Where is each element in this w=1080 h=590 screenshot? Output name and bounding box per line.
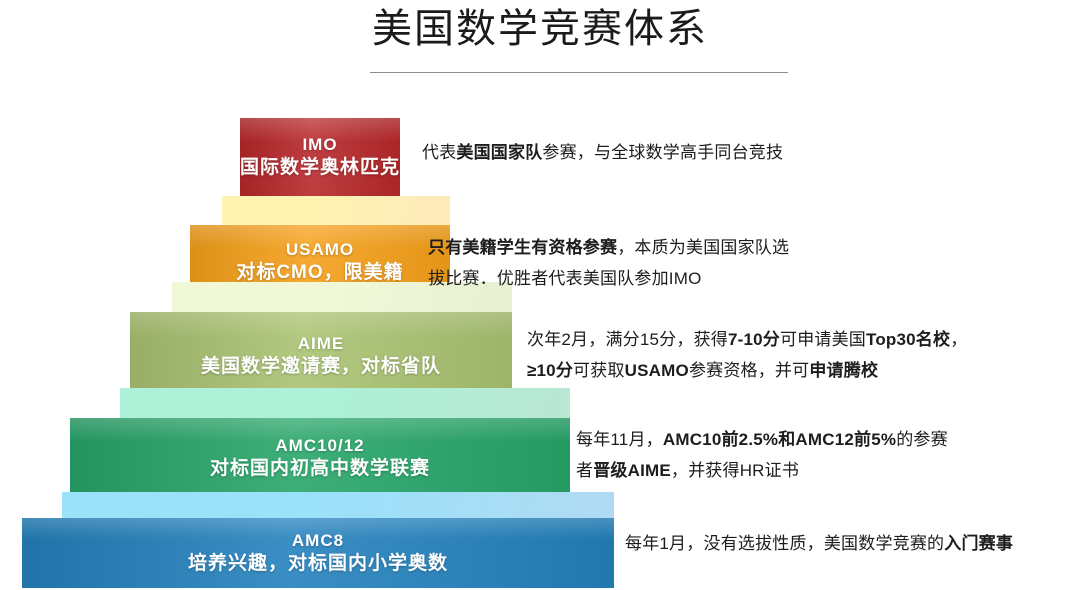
tier-front-face: AMC10/12对标国内初高中数学联赛 [70, 418, 570, 498]
tier-label-en: AIME [201, 333, 441, 355]
pyramid-tier-amc8-top-surface [62, 492, 614, 520]
emphasis-text: 美国国家队 [456, 143, 542, 162]
emphasis-text: 入门赛事 [944, 534, 1013, 553]
tier-top-polygon [222, 196, 450, 227]
description-line: 拔比赛．优胜者代表美国队参加IMO [428, 263, 789, 294]
plain-text: 每年1月，没有选拔性质，美国数学竞赛的 [625, 534, 944, 553]
description-line: 每年11月，AMC10前2.5%和AMC12前5%的参赛 [576, 424, 948, 455]
tier-label: AMC8培养兴趣，对标国内小学奥数 [188, 530, 448, 576]
emphasis-text: USAMO [625, 361, 689, 380]
imo-desc: 代表美国国家队参赛，与全球数学高手同台竞技 [422, 137, 783, 168]
plain-text: 参赛，与全球数学高手同台竞技 [542, 143, 783, 162]
description-line: 每年1月，没有选拔性质，美国数学竞赛的入门赛事 [625, 528, 1013, 559]
emphasis-text: 7-10分 [728, 330, 780, 349]
plain-text: 代表 [422, 143, 456, 162]
emphasis-text: AMC10前2.5%和AMC12前5% [663, 430, 896, 449]
tier-label-en: USAMO [236, 239, 403, 261]
plain-text: 拔比赛．优胜者代表美国队参加IMO [428, 269, 702, 288]
tier-label-en: AMC10/12 [210, 435, 430, 457]
tier-label-cn: 美国数学邀请赛，对标省队 [201, 355, 441, 379]
tier-label: AIME美国数学邀请赛，对标省队 [201, 333, 441, 379]
tier-label-cn: 国际数学奥林匹克 [240, 156, 400, 180]
pyramid-tier-amc1012-top-surface [120, 388, 570, 420]
emphasis-text: 只有美籍学生有资格参赛 [428, 238, 617, 257]
plain-text: 者 [576, 461, 593, 480]
description-line: 者晋级AIME，并获得HR证书 [576, 455, 948, 486]
plain-text: 参赛资格，并可 [689, 361, 809, 380]
description-line: 次年2月，满分15分，获得7-10分可申请美国Top30名校， [527, 324, 967, 355]
pyramid-tier-amc8[interactable]: AMC8培养兴趣，对标国内小学奥数 [22, 518, 614, 588]
emphasis-text: Top30名校 [866, 330, 950, 349]
emphasis-text: 晋级AIME [593, 461, 671, 480]
pyramid-tier-imo[interactable]: IMO国际数学奥林匹克 [240, 118, 400, 196]
aime-desc: 次年2月，满分15分，获得7-10分可申请美国Top30名校，≥10分可获取US… [527, 324, 967, 386]
usamo-desc: 只有美籍学生有资格参赛，本质为美国国家队选拔比赛．优胜者代表美国队参加IMO [428, 232, 789, 294]
competition-pyramid: IMO国际数学奥林匹克USAMO对标CMO，限美籍AIME美国数学邀请赛，对标省… [0, 0, 680, 590]
plain-text: 可获取 [573, 361, 625, 380]
plain-text: ，并获得HR证书 [671, 461, 799, 480]
pyramid-tier-amc1012[interactable]: AMC10/12对标国内初高中数学联赛 [70, 418, 570, 498]
description-line: ≥10分可获取USAMO参赛资格，并可申请腾校 [527, 355, 967, 386]
tier-front-face: AIME美国数学邀请赛，对标省队 [130, 312, 512, 400]
tier-label: IMO国际数学奥林匹克 [240, 134, 400, 180]
plain-text: 的参赛 [896, 430, 948, 449]
tier-label-en: AMC8 [188, 530, 448, 552]
amc8-desc: 每年1月，没有选拔性质，美国数学竞赛的入门赛事 [625, 528, 1013, 559]
tier-label-en: IMO [240, 134, 400, 156]
tier-front-face: IMO国际数学奥林匹克 [240, 118, 400, 196]
tier-top-polygon [120, 388, 570, 420]
plain-text: ， [950, 330, 967, 349]
emphasis-text: ≥10分 [527, 361, 573, 380]
description-line: 代表美国国家队参赛，与全球数学高手同台竞技 [422, 137, 783, 168]
pyramid-tier-usamo-top-surface [222, 196, 450, 227]
tier-top-polygon [62, 492, 614, 520]
tier-front-face: AMC8培养兴趣，对标国内小学奥数 [22, 518, 614, 588]
tier-label-cn: 对标国内初高中数学联赛 [210, 457, 430, 481]
plain-text: 可申请美国 [780, 330, 866, 349]
emphasis-text: 申请腾校 [809, 361, 878, 380]
tier-label-cn: 培养兴趣，对标国内小学奥数 [188, 552, 448, 576]
pyramid-tier-aime[interactable]: AIME美国数学邀请赛，对标省队 [130, 312, 512, 400]
tier-label: AMC10/12对标国内初高中数学联赛 [210, 435, 430, 481]
amc1012-desc: 每年11月，AMC10前2.5%和AMC12前5%的参赛者晋级AIME，并获得H… [576, 424, 948, 486]
description-line: 只有美籍学生有资格参赛，本质为美国国家队选 [428, 232, 789, 263]
tier-label: USAMO对标CMO，限美籍 [236, 239, 403, 285]
plain-text: 次年2月，满分15分，获得 [527, 330, 728, 349]
plain-text: ，本质为美国国家队选 [617, 238, 789, 257]
plain-text: 每年11月， [576, 430, 663, 449]
